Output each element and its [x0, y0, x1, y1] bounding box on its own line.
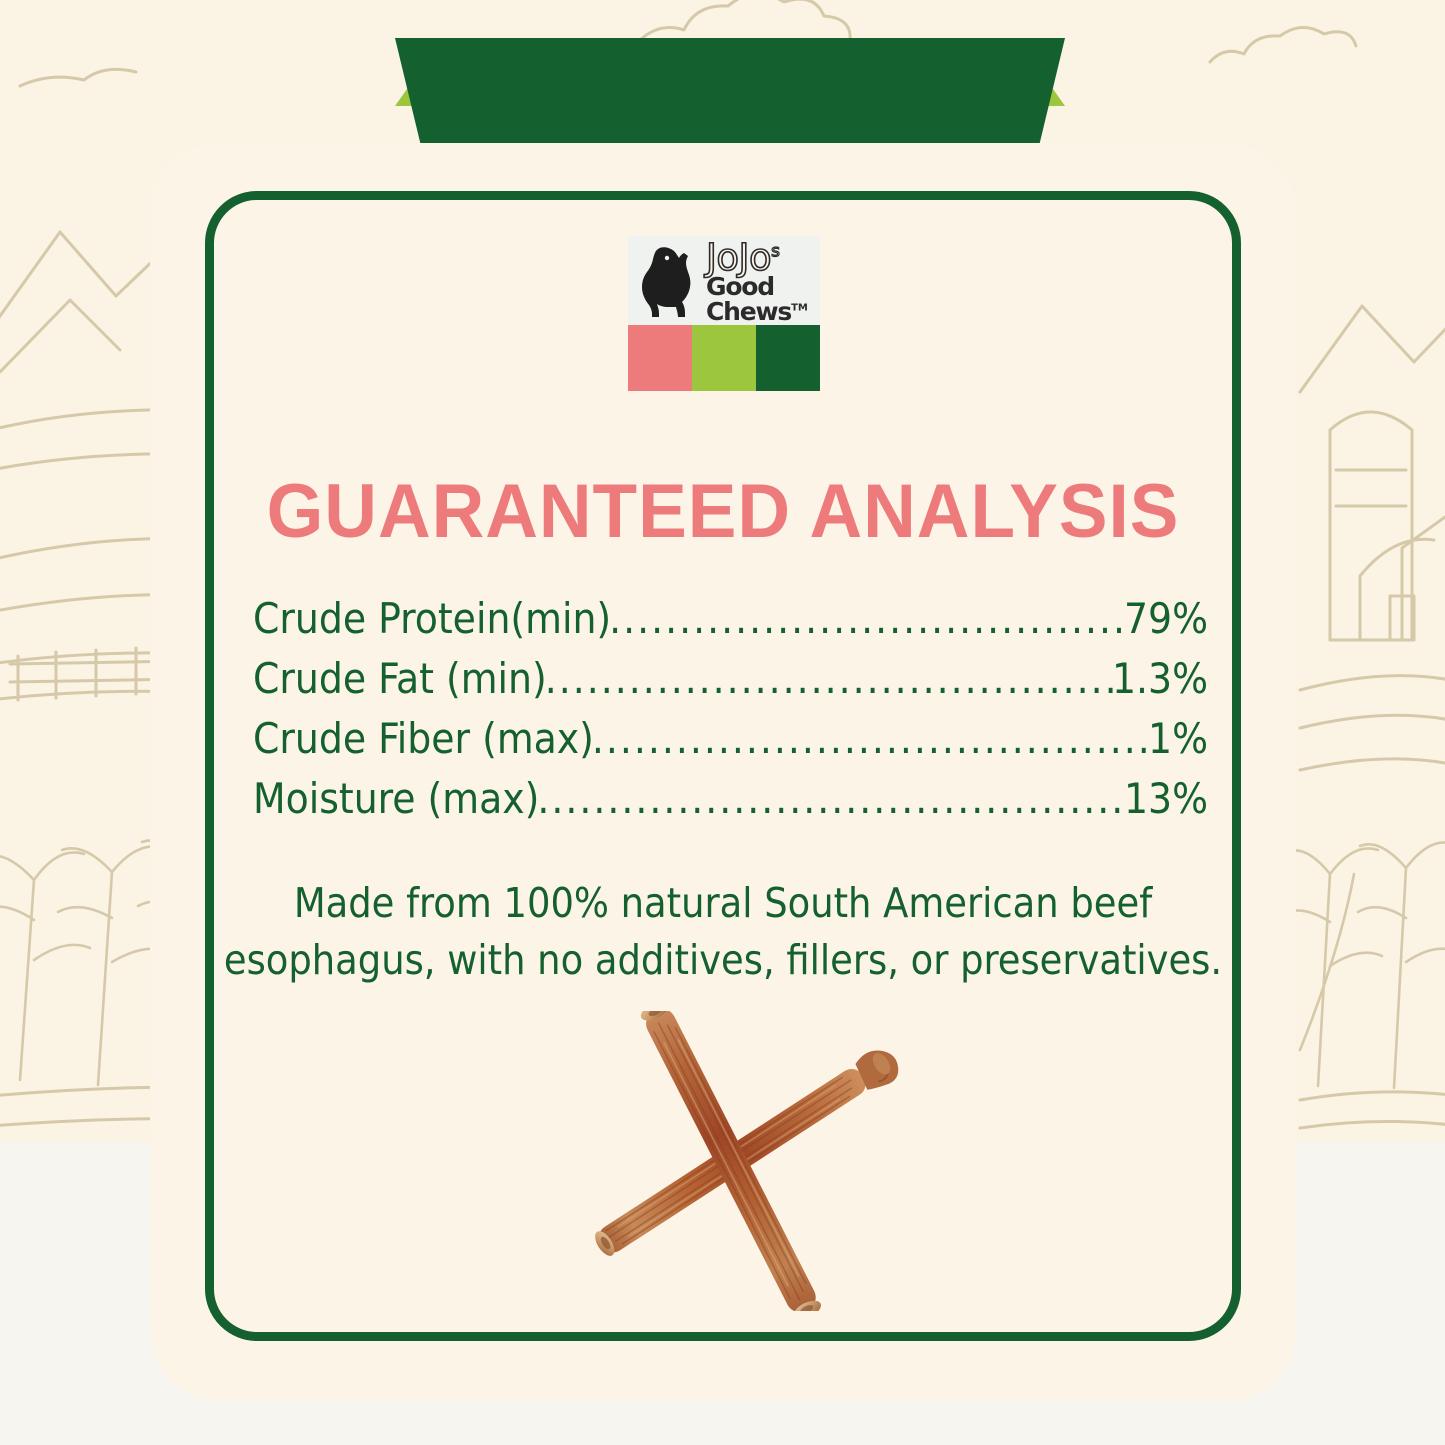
analysis-value: 1.3%	[1112, 658, 1208, 700]
page-title: GUARANTEED ANALYSIS	[173, 468, 1273, 555]
analysis-label: Crude Fat (min)	[253, 658, 547, 700]
logo-wordmark: JoJos Good ChewsTM	[628, 236, 820, 325]
analysis-leader-dots: ........................................…	[592, 718, 1150, 760]
bully-stick-front	[638, 1011, 824, 1311]
brand-logo: JoJos Good ChewsTM	[628, 236, 820, 391]
logo-text-group: JoJos Good ChewsTM	[706, 241, 820, 323]
brand-color-swatches	[628, 325, 820, 391]
analysis-row: Moisture (max) .........................…	[253, 778, 1208, 838]
analysis-value: 1%	[1148, 718, 1208, 760]
trademark-mark: TM	[791, 302, 808, 313]
analysis-value: 79%	[1124, 598, 1208, 640]
analysis-row: Crude Protein(min) .....................…	[253, 598, 1208, 658]
dog-silhouette-icon	[640, 245, 702, 317]
bully-stick-back	[590, 1042, 905, 1265]
analysis-row: Crude Fat (min) ........................…	[253, 658, 1208, 718]
guaranteed-analysis-list: Crude Protein(min) .....................…	[253, 598, 1208, 838]
analysis-card: JoJos Good ChewsTM GUARANTEED ANALYSIS C…	[150, 143, 1296, 1401]
analysis-row: Crude Fiber (max) ......................…	[253, 718, 1208, 778]
swatch-lime	[692, 325, 756, 391]
analysis-leader-dots: ........................................…	[545, 658, 1114, 700]
infographic-page: JoJos Good ChewsTM GUARANTEED ANALYSIS C…	[0, 0, 1445, 1445]
bully-sticks-photo	[430, 1011, 1030, 1311]
logo-tagline: Good ChewsTM	[706, 274, 820, 324]
analysis-value: 13%	[1124, 778, 1208, 820]
swatch-coral	[628, 325, 692, 391]
analysis-leader-dots: ........................................…	[609, 598, 1126, 640]
analysis-label: Crude Protein(min)	[253, 598, 611, 640]
analysis-leader-dots: ........................................…	[537, 778, 1126, 820]
logo-brand-name: JoJos	[706, 241, 820, 275]
product-description: Made from 100% natural South American be…	[200, 875, 1246, 988]
analysis-label: Crude Fiber (max)	[253, 718, 594, 760]
swatch-forest	[756, 325, 820, 391]
analysis-label: Moisture (max)	[253, 778, 539, 820]
